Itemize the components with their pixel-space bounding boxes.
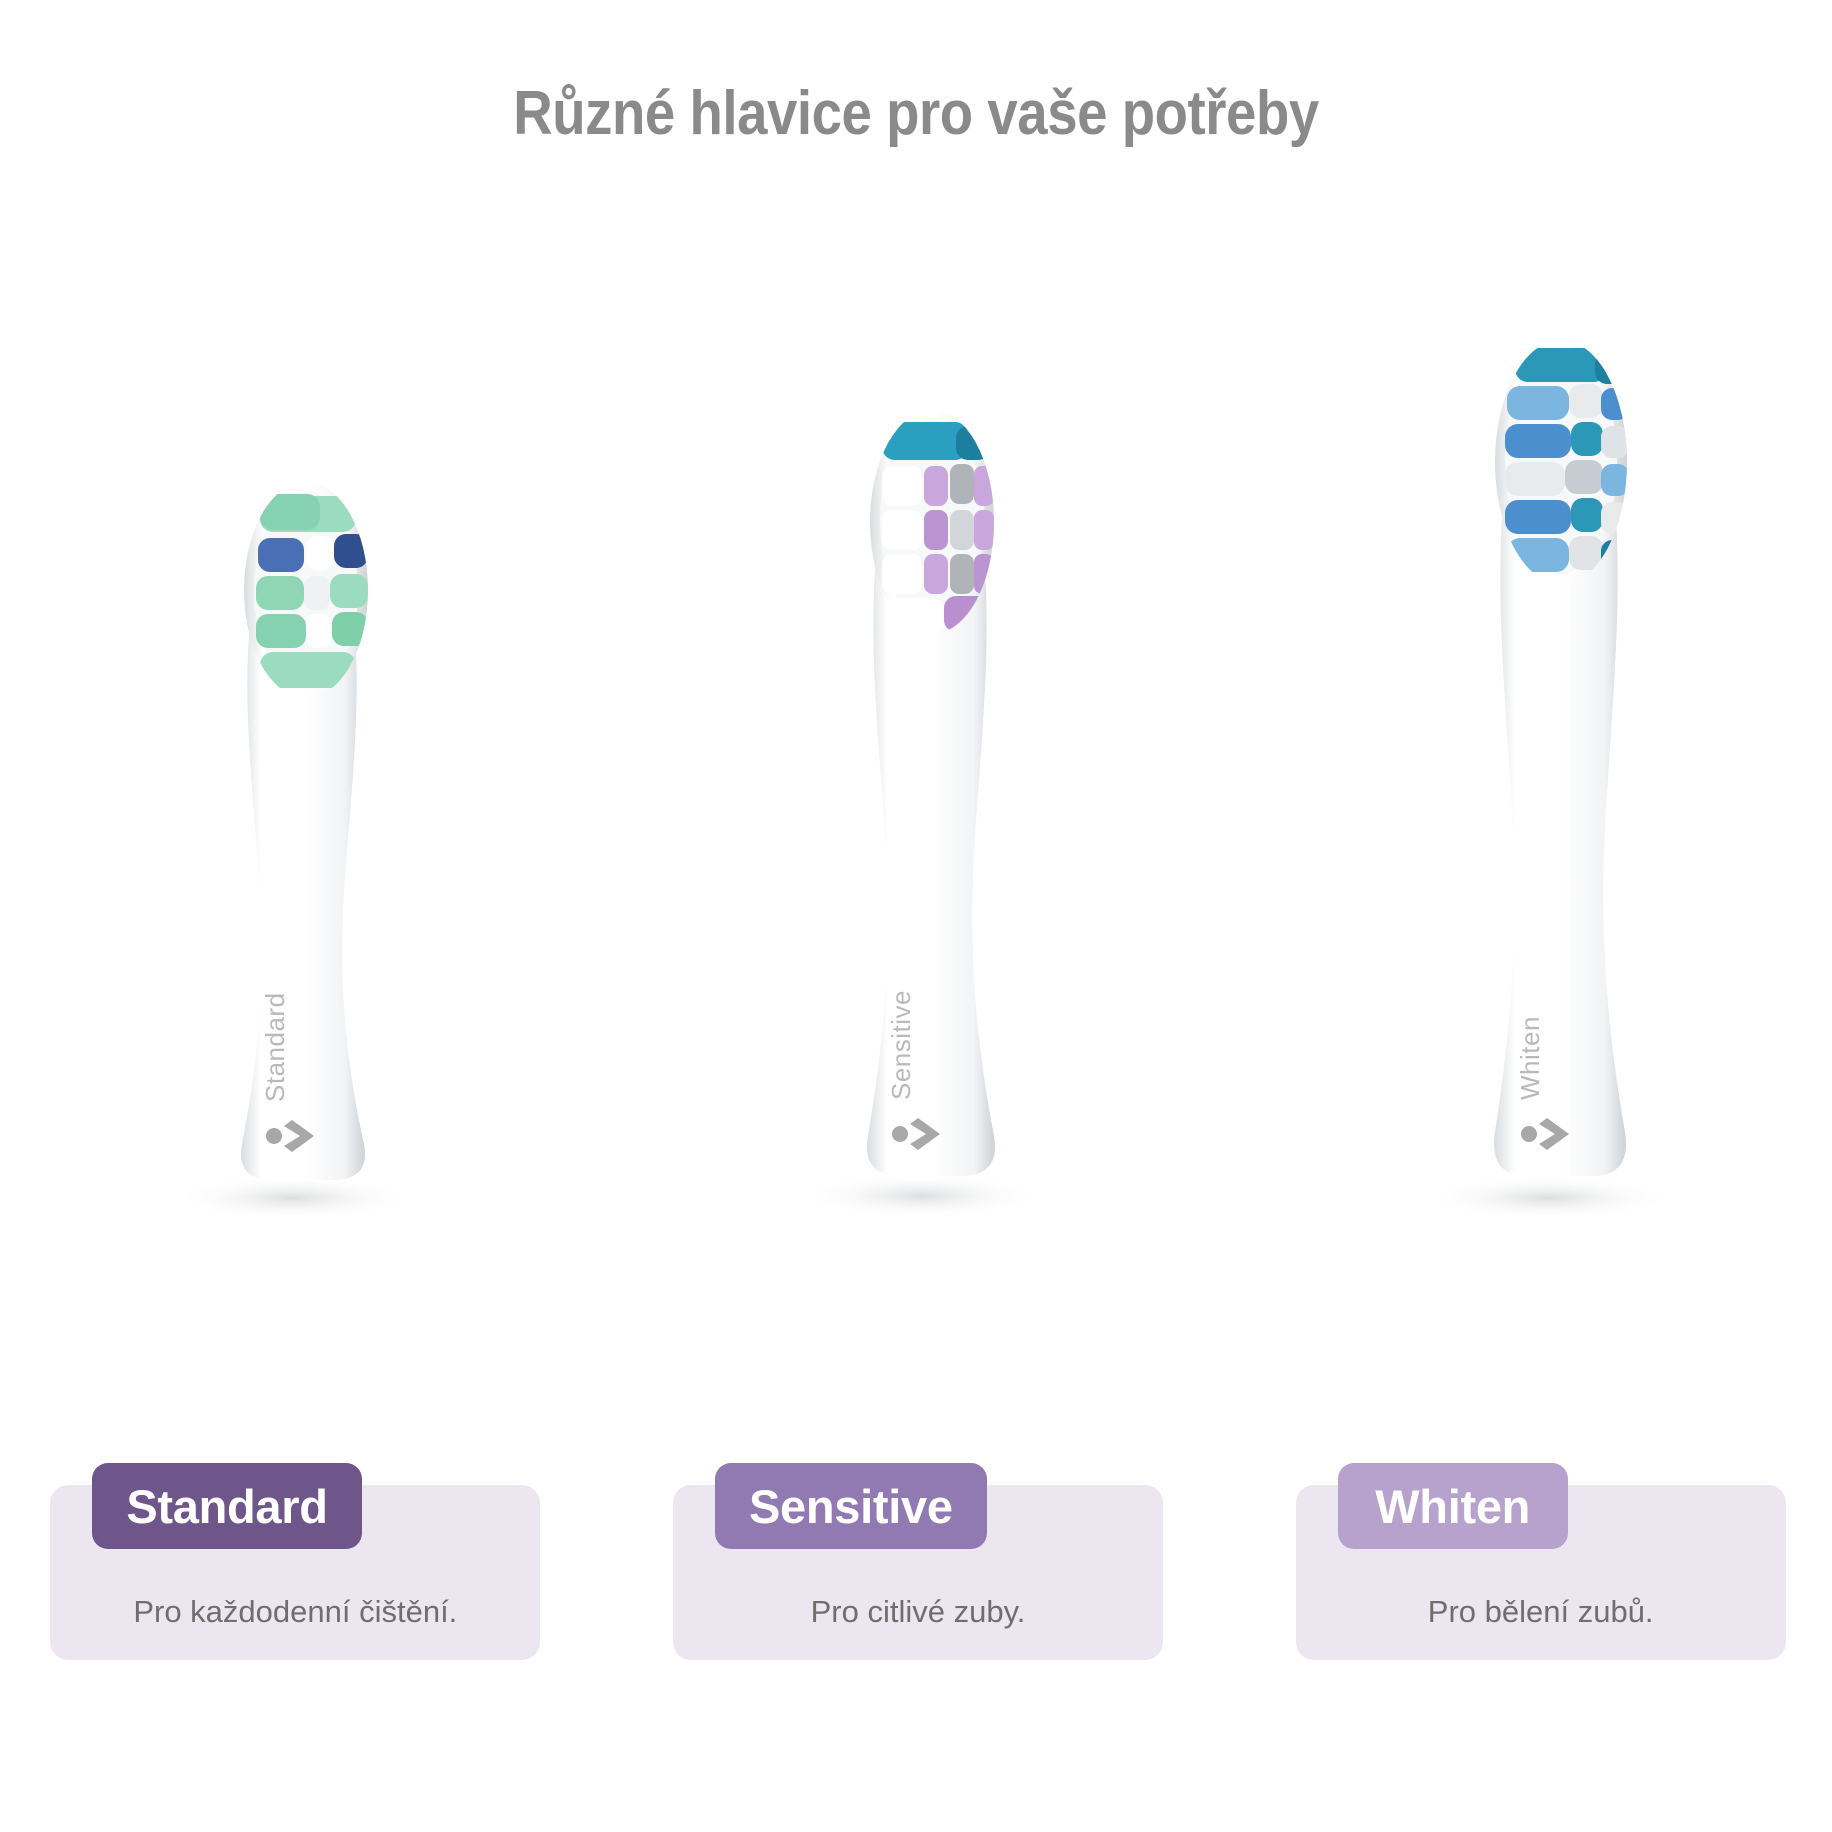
bristle-field: [256, 494, 368, 688]
brush-shadow: [801, 1174, 1041, 1218]
handle-engraving-label: Standard: [260, 992, 290, 1102]
brush-shadow: [173, 1176, 413, 1220]
page-title: Různé hlavice pro vaše potřeby: [110, 78, 1722, 149]
badge-whiten[interactable]: Whiten: [1338, 1463, 1568, 1549]
label-card-standard[interactable]: Standard Pro každodenní čištění.: [50, 1485, 540, 1660]
label-card-sensitive[interactable]: Sensitive Pro citlivé zuby.: [673, 1485, 1163, 1660]
badge-sensitive[interactable]: Sensitive: [715, 1463, 987, 1549]
toothbrush-head-sensitive: Sensitive: [826, 400, 1016, 1210]
product-column-whiten: Whiten: [1221, 330, 1832, 1230]
label-card-whiten[interactable]: Whiten Pro bělení zubů.: [1296, 1485, 1786, 1660]
caption-standard: Pro každodenní čištění.: [50, 1594, 540, 1630]
handle-engraving-label: Sensitive: [886, 990, 916, 1100]
product-label-row: Standard Pro každodenní čištění. Sensiti…: [0, 1455, 1832, 1685]
toothbrush-head-whiten: Whiten: [1449, 332, 1649, 1212]
caption-whiten: Pro bělení zubů.: [1296, 1594, 1786, 1630]
label-card-standard-wrapper: Standard Pro každodenní čištění.: [0, 1455, 611, 1685]
product-column-sensitive: Sensitive: [611, 330, 1222, 1230]
label-card-whiten-wrapper: Whiten Pro bělení zubů.: [1221, 1455, 1832, 1685]
handle-engraving-label: Whiten: [1515, 1016, 1545, 1100]
toothbrush-head-standard: Standard: [198, 472, 388, 1212]
product-column-standard: Standard: [0, 330, 611, 1230]
product-image-row: Standard: [0, 330, 1832, 1230]
brush-shadow: [1425, 1176, 1673, 1220]
label-card-sensitive-wrapper: Sensitive Pro citlivé zuby.: [611, 1455, 1222, 1685]
badge-standard[interactable]: Standard: [92, 1463, 361, 1549]
brush-body: [1494, 504, 1626, 1176]
caption-sensitive: Pro citlivé zuby.: [673, 1594, 1163, 1630]
